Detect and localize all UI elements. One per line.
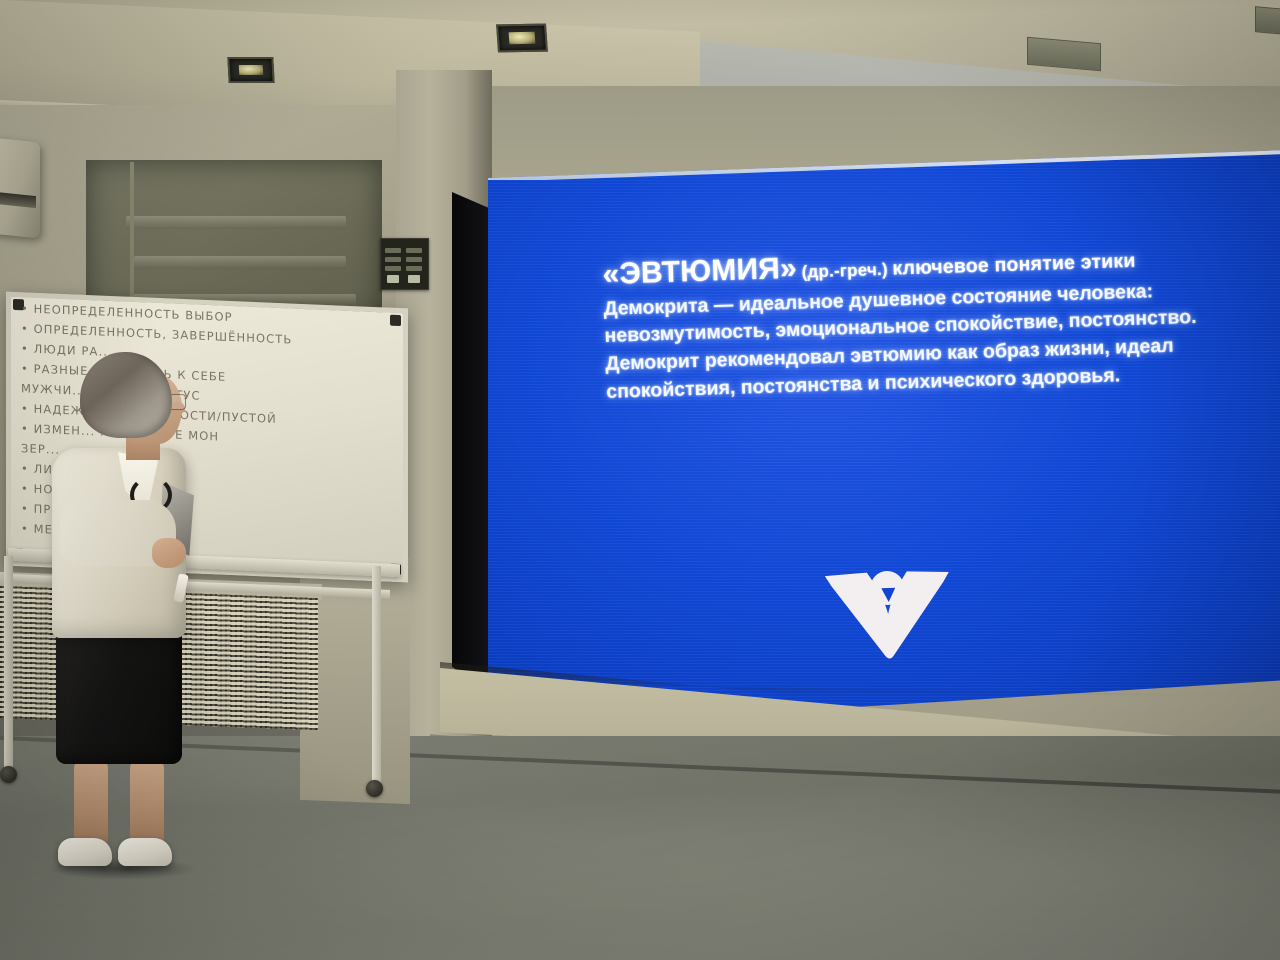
presenter xyxy=(34,352,224,872)
slide-title-greek-note: (др.-греч.) xyxy=(801,260,888,282)
slide-title-term: «ЭВТЮМИЯ» xyxy=(602,252,797,291)
ceiling-vent-icon xyxy=(1255,6,1280,36)
presenter-shoe xyxy=(58,838,112,866)
dove-logo-icon xyxy=(820,556,955,664)
ceiling-downlight-icon xyxy=(227,57,274,83)
wall-control-panel-icon xyxy=(380,238,429,290)
presenter-skirt xyxy=(56,624,182,764)
presenter-hair xyxy=(80,352,172,438)
slide-content: «ЭВТЮМИЯ» (др.-греч.) ключевое понятие э… xyxy=(602,237,1272,578)
whiteboard-caster xyxy=(0,766,17,783)
presenter-shoe xyxy=(118,838,172,866)
presenter-leg xyxy=(130,760,164,846)
ceiling-downlight-icon xyxy=(496,24,548,53)
whiteboard-stand-leg xyxy=(372,566,381,794)
air-conditioner-icon xyxy=(0,137,40,238)
presenter-hand xyxy=(152,538,186,568)
whiteboard-caster xyxy=(366,780,383,797)
lecture-room-photo: «ЭВТЮМИЯ» (др.-греч.) ключевое понятие э… xyxy=(0,0,1280,960)
presenter-leg xyxy=(74,760,108,846)
slide-title-rest: ключевое понятие этики xyxy=(892,250,1136,280)
led-presentation-screen[interactable]: «ЭВТЮМИЯ» (др.-греч.) ключевое понятие э… xyxy=(452,150,1280,730)
whiteboard-stand-leg xyxy=(4,556,13,782)
